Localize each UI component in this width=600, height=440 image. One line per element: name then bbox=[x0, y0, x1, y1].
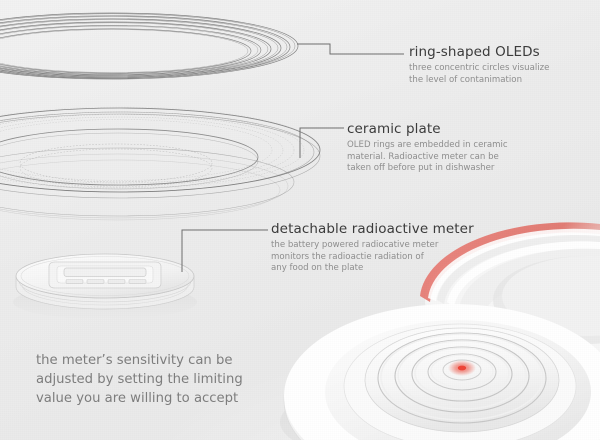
detachable-meter-puck bbox=[13, 254, 197, 319]
ring-shaped-oleds-wireframe bbox=[0, 13, 298, 79]
callout-body-line: taken off before put in dishwasher bbox=[347, 163, 525, 175]
callout-title-ceramic-plate: ceramic plate bbox=[347, 121, 532, 137]
caption-line: the meter’s sensitivity can be bbox=[36, 351, 266, 370]
callout-ceramic-plate: ceramic plate OLED rings are embedded in… bbox=[347, 121, 532, 175]
leader-line-oleds bbox=[297, 44, 404, 54]
callout-body-line: the battery powered radiocative meter bbox=[271, 240, 441, 252]
illustration-canvas: ring-shaped OLEDs three concentric circl… bbox=[0, 0, 600, 440]
callout-ring-shaped-oleds: ring-shaped OLEDs three concentric circl… bbox=[409, 44, 569, 86]
leader-line-meter bbox=[182, 230, 268, 272]
callout-body-line: the level of contanimation bbox=[409, 75, 561, 87]
leader-line-ceramic bbox=[300, 128, 344, 158]
callout-body-line: OLED rings are embedded in ceramic bbox=[347, 140, 525, 152]
callout-body-line: three concentric circles visualize bbox=[409, 63, 561, 75]
sensitivity-caption: the meter’s sensitivity can be adjusted … bbox=[36, 351, 266, 408]
caption-line: value you are willing to accept bbox=[36, 389, 266, 408]
callout-body-line: any food on the plate bbox=[271, 263, 441, 275]
caption-line: adjusted by setting the limiting bbox=[36, 370, 266, 389]
ceramic-plate-wireframe bbox=[0, 107, 320, 220]
callout-title-ring-shaped-oleds: ring-shaped OLEDs bbox=[409, 44, 569, 60]
callout-body-line: monitors the radioactie radiation of bbox=[271, 252, 441, 264]
callout-body-line: material. Radioactive meter can be bbox=[347, 152, 525, 164]
callout-body-detachable-radioactive-meter: the battery powered radiocative meter mo… bbox=[271, 240, 441, 275]
callout-detachable-radioactive-meter: detachable radioactive meter the battery… bbox=[271, 221, 451, 275]
callout-body-ceramic-plate: OLED rings are embedded in ceramic mater… bbox=[347, 140, 525, 175]
callout-title-detachable-radioactive-meter: detachable radioactive meter bbox=[271, 221, 451, 237]
rendered-plate-with-red-center bbox=[280, 304, 600, 440]
callout-body-ring-shaped-oleds: three concentric circles visualize the l… bbox=[409, 63, 561, 86]
